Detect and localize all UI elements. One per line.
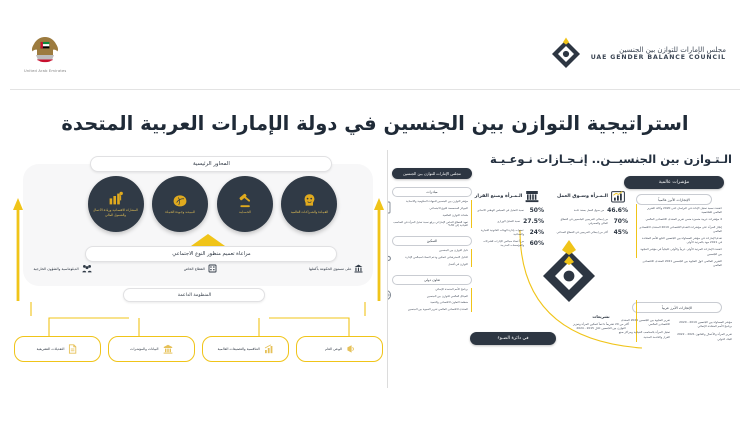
leadership-head-icon <box>302 193 317 208</box>
stat-description: من إجمالي الخريجين الجامعيين في القطاع ا… <box>554 218 608 225</box>
list-item: تقدم الإمارات في مؤشر المساواة بين الجنس… <box>638 236 722 244</box>
pillars-caption: المحاور الرئيسية <box>90 156 332 172</box>
globe-icon <box>387 289 392 301</box>
gender-balance-council-logo: مجلس الإمارات للتوازن بين الجنسين UAE GE… <box>549 37 726 71</box>
list-item: التوازن في أفضل <box>392 263 468 267</box>
emblem-caption: United Arab Emirates <box>24 69 66 73</box>
stat-row: 50% نسبة التمثيل في المجلس الوطني الاتحا… <box>470 207 544 214</box>
left-rail <box>0 0 10 430</box>
stat-row: 60% من أعضاء مجالس الإدارات للشركات والم… <box>470 240 544 247</box>
legislation-item: أكثر من 20 تشريعاً داعماً لتمكين المرأة … <box>570 322 632 330</box>
actor-label: الدبلوماسية والشؤون الخارجية <box>34 267 79 271</box>
support-item-label: التعديلات التشريعية <box>37 347 65 352</box>
stat-women-labour-market: الـمـرأة وسـوق العمل 46.6% من سوق العمل … <box>554 190 628 236</box>
actor-label: على مستوى الحكومة بأكملها <box>309 267 352 271</box>
stat-women-decision-making: الـمـرأة وصنع القرار 50% نسبة التمثيل في… <box>470 190 544 248</box>
list-item: حققت نسبة تمثيل الإناث في البرلمان حتى 2… <box>638 206 722 214</box>
list-item: منظمة التعاون الاقتصادي والتنمية <box>392 301 468 305</box>
list-item: مؤشر التوازن بين الجنسين للجهات الحكومية… <box>392 200 468 204</box>
stat-value: 46.6% <box>607 207 628 214</box>
council-diamond-logo-icon <box>549 37 583 71</box>
stat-value: 70% <box>611 218 628 225</box>
section-items: برنامج الأمم المتحدة الإنمائي الميثاق ال… <box>392 288 472 312</box>
list-item: 4 مؤشرات عربية متميزة ضمن تقرير المنتدى … <box>638 217 722 221</box>
page-header: مجلس الإمارات للتوازن بين الجنسين UAE GE… <box>10 18 740 90</box>
actor-private-sector[interactable]: القطاع الخاص <box>184 264 217 273</box>
private-sector-icon <box>208 264 217 273</box>
support-item-data-indicators[interactable]: البيانات والمؤشرات <box>108 336 195 362</box>
council-section-international: تعاون دولي برنامج الأمم المتحدة الإنمائي… <box>392 275 472 312</box>
support-item-legislative-amendments[interactable]: التعديلات التشريعية <box>14 336 101 362</box>
section-caption: مبادرات <box>392 187 472 197</box>
stat-description: عضوات بإدارة الهيئات القانونية التجارية … <box>470 229 524 236</box>
support-item-label: البيانات والمؤشرات <box>130 347 158 352</box>
falcon-emblem-icon <box>28 35 62 67</box>
council-logo-text: مجلس الإمارات للتوازن بين الجنسين UAE GE… <box>591 46 726 61</box>
stat-header: الـمـرأة وصنع القرار <box>470 190 544 203</box>
council-column: مجلس الإمارات للتوازن بين الجنسين مبادرا… <box>392 168 472 315</box>
arab-achievements-column-2: مؤشر المساواة بين الجنسين 2019 - 2020 بر… <box>674 320 732 341</box>
stat-description: من أعضاء مجالس الإدارات للشركات والمؤسسا… <box>470 240 524 247</box>
legislation-doc-icon <box>68 344 77 354</box>
ranking-chart-icon <box>264 344 274 354</box>
section-caption: التمكين <box>392 236 472 246</box>
legislation-title: تشريعات <box>570 314 632 319</box>
pillar-protection[interactable]: الحـمـايـة <box>217 176 273 232</box>
left-side-arrow-icon <box>12 198 24 302</box>
page-title: استراتيجية التوازن بين الجنسين في دولة ا… <box>0 112 750 135</box>
stat-description: أكثر من إجمالي الخريجين في القطاع الصناع… <box>557 231 608 235</box>
list-item: ملفات التوازن العالمية <box>392 214 468 218</box>
uae-national-emblem: United Arab Emirates <box>24 35 66 73</box>
actors-row: على مستوى الحكومة بأكملها القطاع الخاص <box>33 264 363 273</box>
list-item: برنامج الأمم المتحدة الإنمائي <box>392 288 468 292</box>
pillar-label: الـبـيـئـة وجـودة الحـيـاة <box>161 210 199 214</box>
pillar-label: الحـمـايـة <box>235 210 255 214</box>
gender-mainstreaming-caption: مراعاة تعميم منظور النوع الاجتماعي <box>85 246 337 262</box>
content-area: الـتـوازن بين الجنسيــن.. إنـجـازات نـوع… <box>10 150 740 388</box>
economic-growth-icon <box>108 191 124 206</box>
pillar-environment[interactable]: الـبـيـئـة وجـودة الحـيـاة <box>152 176 208 232</box>
actor-whole-of-government[interactable]: على مستوى الحكومة بأكملها <box>309 264 364 273</box>
bar-chart-icon <box>611 190 625 203</box>
pillars-row: القـيـادة والشـراكـات العالمية الحـمـايـ… <box>87 176 337 232</box>
support-item-competitiveness[interactable]: التنافسية والتصنيفات العالمية <box>202 336 289 362</box>
environment-leaf-icon <box>172 194 188 208</box>
stat-title: الـمـرأة وسـوق العمل <box>557 194 608 200</box>
council-name-english: UAE GENDER BALANCE COUNCIL <box>591 54 726 61</box>
global-indicators-badge: مؤشرات عالمية <box>624 176 724 189</box>
actor-label: القطاع الخاص <box>184 267 205 271</box>
gavel-icon <box>237 193 253 208</box>
gears-icon <box>387 250 392 262</box>
global-achievements-badge: الإنجازات الأبرز عالمياً <box>636 194 712 205</box>
stat-description: نسبة التمثيل في المجلس الوطني الاتحادي <box>477 209 524 213</box>
stat-description: نسبة التمثيل الوزاري <box>497 220 520 224</box>
government-icon <box>354 264 363 273</box>
list-item: الدليل الاسترشادي لتمكين ودعم النساء لمج… <box>392 256 468 260</box>
section-items: دليل التوازن بين الجنسين الدليل الاسترشا… <box>392 249 472 267</box>
stat-header: الـمـرأة وسـوق العمل <box>554 190 628 203</box>
section-caption: تعاون دولي <box>392 275 472 285</box>
council-name-arabic: مجلس الإمارات للتوازن بين الجنسين <box>591 46 726 54</box>
stat-row: 70% من إجمالي الخريجين الجامعيين في القط… <box>554 218 628 225</box>
list-item: مؤشر المساواة بين الجنسين 2019 - 2020 بر… <box>674 320 732 328</box>
council-section-empowerment: التمكين دليل التوازن بين الجنسين الدليل … <box>392 236 472 267</box>
support-items-row: الوعي العام التنافسية والتصنيفات العالمي… <box>13 336 383 362</box>
list-item: التقرير العالمي حول الفجوة بين الجنسين 2… <box>638 259 722 267</box>
council-section-initiatives: مبادرات مؤشر التوازن بين الجنسين للجهات … <box>392 187 472 228</box>
actor-diplomacy[interactable]: الدبلوماسية والشؤون الخارجية <box>34 264 92 273</box>
left-infographic-pane: الـتـوازن بين الجنسيــن.. إنـجـازات نـوع… <box>387 150 740 388</box>
support-item-label: التنافسية والتصنيفات العالمية <box>218 347 260 352</box>
upward-arrow-icon <box>191 234 225 246</box>
right-strategy-pane: المحاور الرئيسية القـيـادة والشـراكـات ا… <box>10 150 387 388</box>
list-item: الميثاق العالمي للتوازن بين الجنسين <box>392 295 468 299</box>
council-column-header: مجلس الإمارات للتوازن بين الجنسين <box>392 168 472 179</box>
list-item: تعهد القطاع الخاص الإماراتي برفع نسبة تم… <box>392 221 468 229</box>
list-item: المنتدى الاقتصادي العالمي تقرير الفجوة ب… <box>392 308 468 312</box>
list-item: دليل التوازن بين الجنسين <box>392 249 468 253</box>
left-headline: الـتـوازن بين الجنسيــن.. إنـجـازات نـوع… <box>552 152 732 166</box>
government-building-icon <box>525 190 539 203</box>
section-items: مؤشر التوازن بين الجنسين للجهات الحكومية… <box>392 200 472 228</box>
support-item-label: الوعي العام <box>325 347 342 352</box>
stat-row: 46.6% من سوق العمل بصفة عامة <box>554 207 628 214</box>
stat-row: 24% عضوات بإدارة الهيئات القانونية التجا… <box>470 229 544 236</box>
spotlight-badge: في دائرة الضـوء <box>470 332 556 345</box>
stat-title: الـمـرأة وصنع القرار <box>475 194 523 200</box>
stat-row: 27.5% نسبة التمثيل الوزاري <box>470 218 544 225</box>
document-icon <box>387 201 391 214</box>
list-item: إنجاز المرأة على مؤشرات التقدم الاقتصادي… <box>638 225 722 233</box>
stat-value: 50% <box>527 207 544 214</box>
list-item: تقرير المرأة والأعمال والقانون 2021 - 20… <box>674 332 732 340</box>
stat-value: 27.5% <box>523 218 544 225</box>
stat-value: 24% <box>527 229 544 236</box>
pillar-label: المشاركة الاقتصادية وريادة الأعمال والشم… <box>88 208 144 216</box>
infographic-page: مجلس الإمارات للتوازن بين الجنسين UAE GE… <box>0 0 750 430</box>
support-connectors <box>19 300 377 340</box>
right-rail <box>740 0 750 430</box>
list-item: الجوائز المخصصة للنوع الاجتماعي <box>392 207 468 211</box>
diplomacy-icon <box>82 264 92 273</box>
stat-value: 60% <box>527 240 544 247</box>
megaphone-icon <box>346 344 355 354</box>
stat-value: 45% <box>611 229 628 236</box>
support-system-caption: المنظومة الداعمة <box>123 288 265 302</box>
global-achievements-list: حققت نسبة تمثيل الإناث في البرلمان حتى 2… <box>638 206 722 267</box>
data-chart-icon <box>163 344 173 354</box>
legislation-block: تشريعات أكثر من 20 تشريعاً داعماً لتمكين… <box>570 314 632 330</box>
list-item: حققت الإمارات المرتبة الأولى عربياً والأ… <box>638 247 722 255</box>
pillar-economic-participation[interactable]: المشاركة الاقتصادية وريادة الأعمال والشم… <box>88 176 144 232</box>
pillar-label: القـيـادة والشـراكـات العالمية <box>287 210 332 214</box>
pillar-leadership[interactable]: القـيـادة والشـراكـات العالمية <box>281 176 337 232</box>
council-diamond-watermark-icon <box>538 238 600 310</box>
stat-description: من سوق العمل بصفة عامة <box>574 209 604 213</box>
right-side-arrow-icon <box>373 198 385 302</box>
stat-row: 45% أكثر من إجمالي الخريجين في القطاع ال… <box>554 229 628 236</box>
support-item-public-awareness[interactable]: الوعي العام <box>296 336 383 362</box>
